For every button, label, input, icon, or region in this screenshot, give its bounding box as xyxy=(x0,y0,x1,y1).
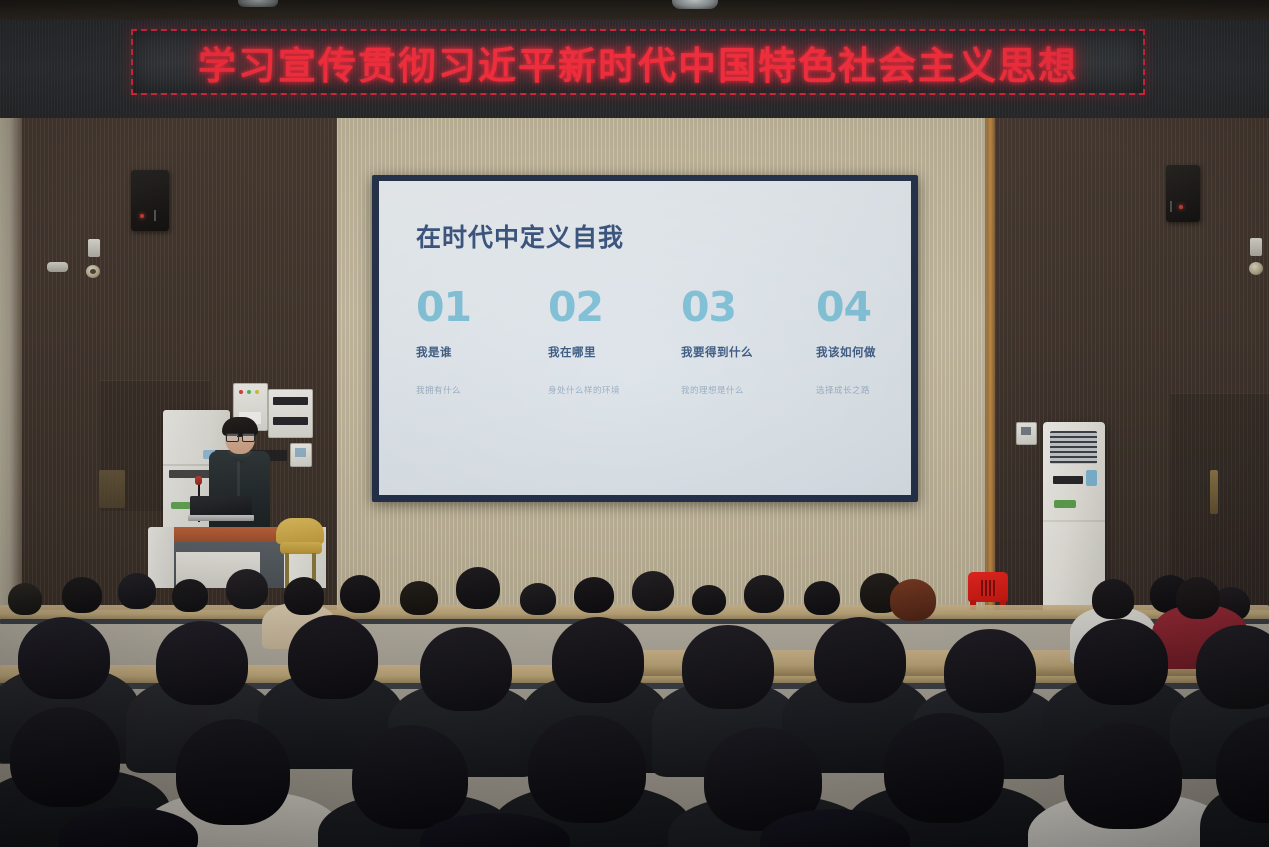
audience-head xyxy=(1092,579,1134,619)
audience-head xyxy=(340,575,380,613)
wall-outlet-icon xyxy=(1249,262,1263,275)
smoke-detector-icon xyxy=(47,262,68,272)
audience-head xyxy=(420,627,512,711)
glasses-lens xyxy=(226,433,239,442)
glasses-bridge xyxy=(237,436,242,437)
wall-vent-icon xyxy=(99,470,125,508)
audience-head xyxy=(682,625,774,709)
slide-item-label: 我是谁 xyxy=(416,344,471,360)
audience-head xyxy=(18,617,110,699)
ac-seam xyxy=(1043,520,1105,522)
ceiling-light-icon xyxy=(238,0,278,7)
audience-head xyxy=(118,573,156,609)
slide-title: 在时代中定义自我 xyxy=(416,218,624,254)
slide-item-01: 01 我是谁 我拥有什么 xyxy=(416,287,471,396)
audience-head xyxy=(632,571,674,611)
audience-head xyxy=(456,567,500,609)
audience-head xyxy=(884,713,1004,823)
slide-item-02: 02 我在哪里 身处什么样的环境 xyxy=(548,287,620,396)
audience-head xyxy=(226,569,268,609)
audience-head xyxy=(352,725,468,829)
ceiling xyxy=(0,0,1269,20)
outlet-hole xyxy=(90,269,96,274)
slide-item-number: 01 xyxy=(416,287,471,328)
slide-item-sub: 我拥有什么 xyxy=(416,384,471,396)
audience-head-red-hair xyxy=(890,579,936,621)
audience-head xyxy=(172,579,208,612)
speaker-slit xyxy=(154,210,156,221)
audience-head xyxy=(284,577,324,615)
breaker-panel[interactable] xyxy=(268,389,313,438)
slide-item-number: 02 xyxy=(548,287,620,328)
podium-top xyxy=(168,527,290,543)
glasses-icon xyxy=(226,433,254,440)
thermostat-screen xyxy=(1021,427,1031,435)
indicator-led-red-icon xyxy=(239,390,243,394)
laptop-keyboard xyxy=(188,515,254,521)
wall-control-panel[interactable] xyxy=(290,443,312,467)
speaker-slit xyxy=(1170,201,1172,212)
ac-badge xyxy=(1086,470,1097,486)
slide-item-sub: 选择成长之路 xyxy=(816,384,876,396)
speaker-led-icon xyxy=(140,214,144,218)
audience-head xyxy=(1064,723,1182,829)
audience-head xyxy=(744,575,784,613)
chair-backrest xyxy=(276,518,324,544)
audience-head xyxy=(520,583,556,615)
ceiling-light-icon xyxy=(672,0,718,9)
laptop-screen xyxy=(190,496,252,516)
audience-head xyxy=(176,719,290,825)
indicator-led-yellow-icon xyxy=(255,390,259,394)
audience-head xyxy=(944,629,1036,713)
control-screen xyxy=(295,448,306,457)
slide-item-03: 03 我要得到什么 我的理想是什么 xyxy=(681,287,753,396)
indicator-led-green-icon xyxy=(247,390,251,394)
audience-head xyxy=(574,577,614,613)
microphone-icon xyxy=(195,476,202,485)
wall-speaker-icon xyxy=(1166,165,1200,222)
audience-head xyxy=(10,707,120,807)
breaker-row xyxy=(273,397,308,405)
ac-logo-icon xyxy=(1054,500,1076,508)
wall-switch-icon[interactable] xyxy=(1250,238,1262,256)
slide-item-number: 04 xyxy=(816,287,876,328)
audience-head xyxy=(156,621,248,705)
slide-item-label: 我在哪里 xyxy=(548,344,620,360)
wall-switch-icon[interactable] xyxy=(88,239,100,257)
audience-head xyxy=(528,715,646,823)
slide-item-label: 我该如何做 xyxy=(816,344,876,360)
ac-vent-grille-icon xyxy=(1050,431,1097,464)
audience xyxy=(0,555,1269,847)
audience-head xyxy=(400,581,438,615)
breaker-row xyxy=(273,417,308,425)
speaker-led-icon xyxy=(1179,205,1183,209)
door-handle-icon[interactable] xyxy=(1210,470,1218,514)
slide-item-sub: 身处什么样的环境 xyxy=(548,384,620,396)
audience-head xyxy=(62,577,102,613)
led-banner-panel: 学习宣传贯彻习近平新时代中国特色社会主义思想 xyxy=(131,29,1145,95)
audience-head xyxy=(552,617,644,703)
audience-head xyxy=(804,581,840,615)
glasses-lens xyxy=(242,433,255,442)
wall-outlet-icon xyxy=(86,265,100,278)
lecture-hall-photo: 学习宣传贯彻习近平新时代中国特色社会主义思想 在时代中定义自我 01 我是谁 我… xyxy=(0,0,1269,847)
slide-item-label: 我要得到什么 xyxy=(681,344,753,360)
left-wall-edge xyxy=(0,118,22,610)
audience-head xyxy=(692,585,726,615)
slide-item-number: 03 xyxy=(681,287,753,328)
audience-head xyxy=(1074,619,1168,705)
led-banner-text: 学习宣传贯彻习近平新时代中国特色社会主义思想 xyxy=(198,35,1078,90)
wall-speaker-icon xyxy=(131,170,169,231)
audience-head xyxy=(1176,577,1220,619)
audience-head xyxy=(814,617,906,703)
slide-item-04: 04 我该如何做 选择成长之路 xyxy=(816,287,876,396)
ac-display xyxy=(1053,476,1083,484)
wall-thermostat-icon[interactable] xyxy=(1016,422,1037,445)
audience-head xyxy=(1196,625,1269,709)
audience-head xyxy=(8,583,42,615)
slide-item-sub: 我的理想是什么 xyxy=(681,384,753,396)
audience-head xyxy=(288,615,378,699)
